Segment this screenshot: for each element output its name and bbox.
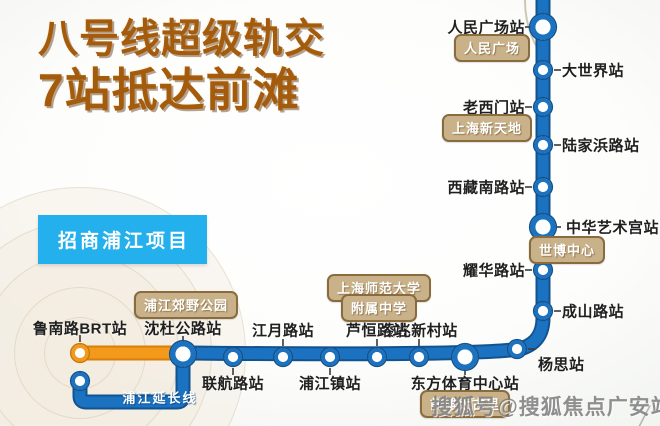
station-label-jiangyue-lu[interactable]: 江月路站 [252, 320, 314, 341]
station-dot[interactable] [533, 60, 553, 80]
watermark: 搜狐号@搜狐焦点广安站 [431, 391, 660, 421]
station-dot[interactable] [169, 340, 197, 368]
landmark-tag-renmin-guangchang[interactable]: 人民广场 [454, 34, 530, 62]
branch-line-label: 浦江延长线 [122, 388, 197, 407]
station-label-yaohua-lu[interactable]: 耀华路站 [463, 260, 525, 281]
landmark-tag-laoximen[interactable]: 上海新天地 [442, 114, 532, 142]
station-dot[interactable] [533, 97, 553, 117]
station-label-yangsi[interactable]: 杨思站 [538, 354, 585, 375]
station-label-xizang-nan-lu[interactable]: 西藏南路站 [447, 177, 525, 198]
station-dot[interactable] [273, 347, 293, 367]
station-dot[interactable] [409, 347, 429, 367]
landmark-tag-shendu-gonglu[interactable]: 浦江郊野公园 [134, 291, 238, 319]
station-dot[interactable] [533, 135, 553, 155]
station-label-lianhang-lu[interactable]: 联航路站 [202, 373, 264, 394]
station-dot[interactable] [320, 347, 340, 367]
station-dot[interactable] [507, 339, 527, 359]
station-label-lunan-lu-brt[interactable]: 鲁南路BRT站 [33, 318, 127, 339]
station-dot[interactable] [70, 343, 90, 363]
station-dot[interactable] [533, 177, 553, 197]
poster-canvas: 八号线超级轨交 7站抵达前滩 招商浦江项目 人民广场站人民广场大世界站老西门站上… [0, 0, 660, 426]
station-dot[interactable] [223, 347, 243, 367]
station-label-pujiang-zhen[interactable]: 浦江镇站 [299, 373, 361, 394]
station-dot[interactable] [367, 347, 387, 367]
station-label-luheng-lu[interactable]: 芦恒路站 [346, 320, 408, 341]
station-dot[interactable] [451, 343, 479, 371]
watermark-slash: ╱ [638, 405, 650, 426]
station-label-shendu-gonglu[interactable]: 沈杜公路站 [144, 318, 222, 339]
station-dot[interactable] [533, 301, 553, 321]
station-dot[interactable] [529, 13, 557, 41]
landmark-tag-shishida-fuzhong[interactable]: 附属中学 [341, 294, 417, 322]
landmark-tag-zhonghua-yishugong[interactable]: 世博中心 [529, 236, 605, 264]
station-label-dashijie[interactable]: 大世界站 [562, 60, 624, 81]
station-label-lujiabang-lu[interactable]: 陆家浜路站 [562, 135, 640, 156]
station-dot[interactable] [70, 371, 90, 391]
station-label-zhonghua-yishugong[interactable]: 中华艺术宫站 [566, 217, 659, 238]
station-label-chengshan-lu[interactable]: 成山路站 [562, 301, 624, 322]
